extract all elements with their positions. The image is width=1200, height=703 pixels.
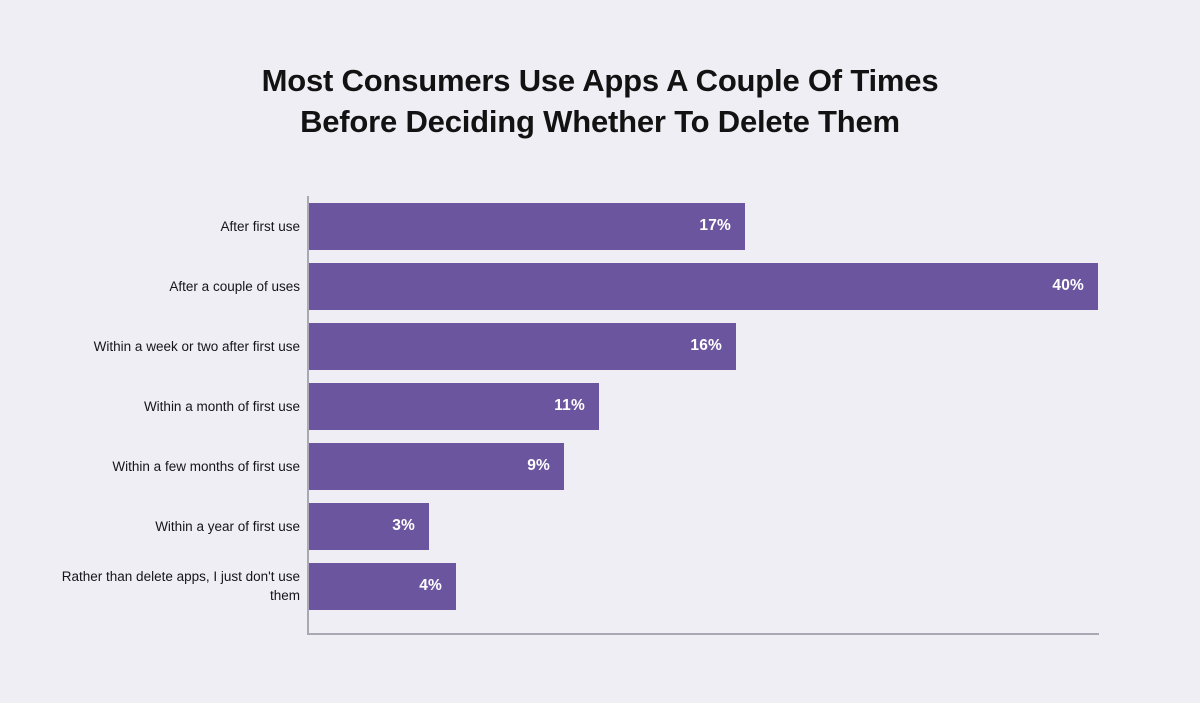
bar-row: Within a year of first use3% [0,496,1200,556]
bar-row: Within a week or two after first use16% [0,316,1200,376]
bar-track: 3% [309,496,1099,556]
bar-row: Rather than delete apps, I just don't us… [0,556,1200,616]
x-axis-line [307,633,1099,635]
bar-row: Within a few months of first use9% [0,436,1200,496]
bar-track: 4% [309,556,1099,616]
bar-value-label: 17% [699,217,731,235]
bar[interactable]: 40% [309,263,1098,310]
bar-value-label: 4% [419,577,442,595]
bar-track: 40% [309,256,1099,316]
chart-page: Most Consumers Use Apps A Couple Of Time… [0,0,1200,703]
category-label: After a couple of uses [60,256,300,316]
bar-value-label: 16% [690,337,722,355]
bar-value-label: 11% [554,397,585,415]
category-label: Within a year of first use [60,496,300,556]
bar-chart: After first use17%After a couple of uses… [0,0,1200,703]
bar[interactable]: 17% [309,203,745,250]
bar[interactable]: 9% [309,443,564,490]
bar-track: 9% [309,436,1099,496]
bar-row: Within a month of first use11% [0,376,1200,436]
bar-value-label: 3% [392,517,415,535]
bar[interactable]: 3% [309,503,429,550]
bar[interactable]: 4% [309,563,456,610]
bar[interactable]: 11% [309,383,599,430]
bar-value-label: 9% [527,457,550,475]
category-label: Within a month of first use [60,376,300,436]
bar[interactable]: 16% [309,323,736,370]
bar-track: 16% [309,316,1099,376]
bar-track: 11% [309,376,1099,436]
bar-rows: After first use17%After a couple of uses… [0,196,1200,616]
category-label: After first use [60,196,300,256]
bar-value-label: 40% [1052,277,1084,295]
category-label: Rather than delete apps, I just don't us… [60,556,300,616]
bar-row: After first use17% [0,196,1200,256]
category-label: Within a few months of first use [60,436,300,496]
category-label: Within a week or two after first use [60,316,300,376]
bar-row: After a couple of uses40% [0,256,1200,316]
bar-track: 17% [309,196,1099,256]
